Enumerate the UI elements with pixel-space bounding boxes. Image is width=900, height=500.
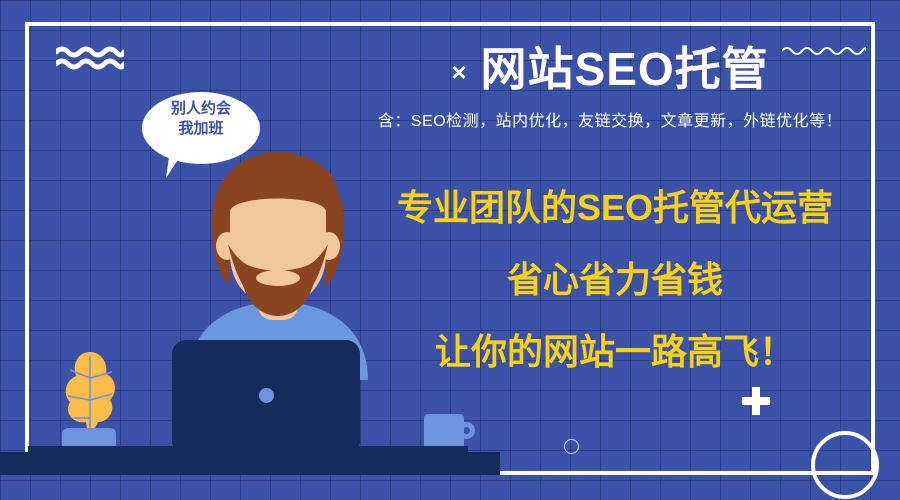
small-circle-outline-icon — [564, 439, 579, 454]
headline-block: × 网站SEO托管 含：SEO检测，站内优化，友链交换，文章更新，外链优化等！ — [330, 44, 890, 131]
selling-point-1: 专业团队的SEO托管代运营 — [360, 190, 870, 226]
plus-icon — [742, 387, 770, 415]
speech-bubble-line-2: 我加班 — [142, 119, 260, 139]
speech-bubble-text: 别人约会 我加班 — [142, 99, 260, 140]
coffee-mug-handle-icon — [458, 422, 475, 439]
potted-plant-icon — [60, 348, 122, 434]
selling-points: 专业团队的SEO托管代运营 省心省力省钱 让你的网站一路高飞！ — [360, 190, 870, 370]
selling-point-3: 让你的网站一路高飞！ — [360, 334, 870, 370]
page-subtitle: 含：SEO检测，站内优化，友链交换，文章更新，外链优化等！ — [330, 107, 890, 131]
desk-icon — [0, 452, 500, 475]
laptop-logo-icon — [259, 388, 274, 403]
title-bullet-icon: × — [451, 59, 466, 85]
speech-bubble-line-1: 别人约会 — [142, 99, 260, 119]
page-title: 网站SEO托管 — [481, 44, 769, 95]
selling-point-2: 省心省力省钱 — [360, 262, 870, 298]
seo-promo-banner: × 网站SEO托管 含：SEO检测，站内优化，友链交换，文章更新，外链优化等！ … — [0, 0, 900, 500]
wave-thick-icon — [56, 46, 124, 70]
circle-outline-icon — [811, 431, 879, 499]
title-row: × 网站SEO托管 — [330, 44, 890, 95]
